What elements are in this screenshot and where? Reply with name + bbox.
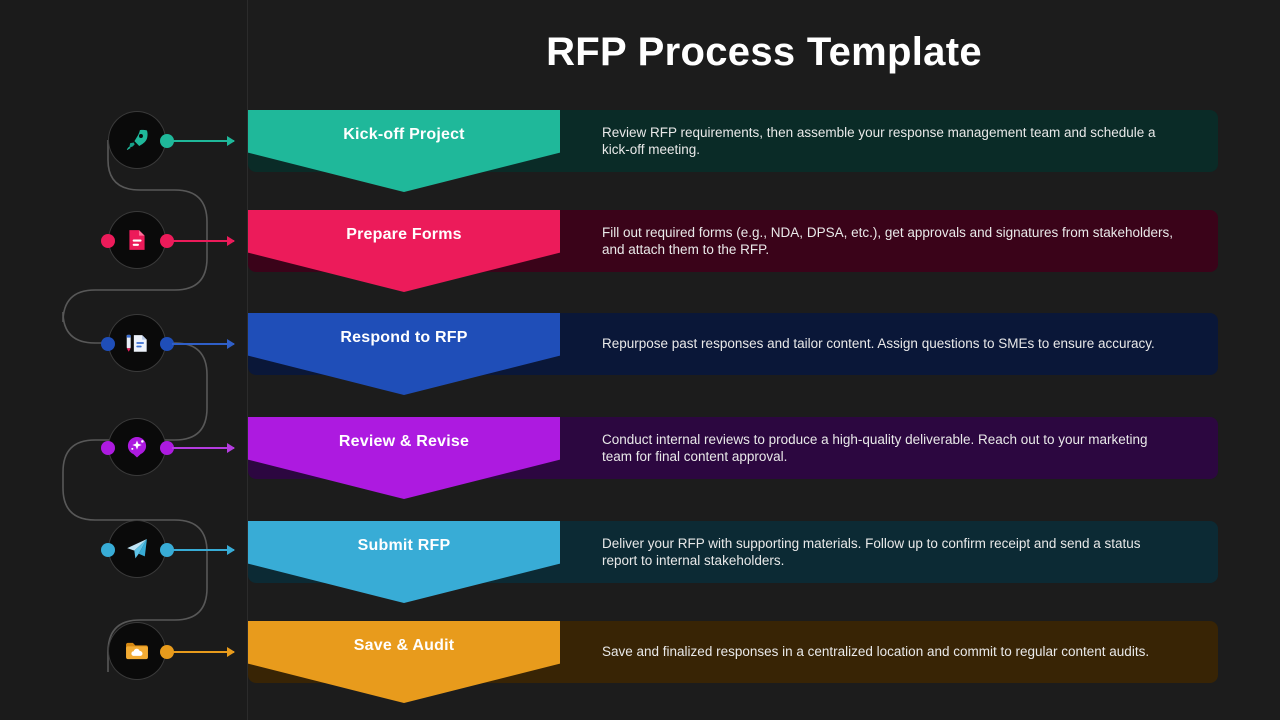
step-label-chevron[interactable]: Save & Audit — [248, 621, 560, 703]
document-lines-icon — [123, 226, 151, 254]
step-label-text: Submit RFP — [358, 537, 451, 555]
folder-cloud-icon — [123, 637, 151, 665]
step-connector-4 — [172, 447, 234, 449]
step-dot-left-2 — [101, 234, 115, 248]
slide-canvas: RFP Process Template Review RFP requirem… — [0, 0, 1280, 720]
step-connector-6 — [172, 651, 234, 653]
step-description-text: Repurpose past responses and tailor cont… — [602, 335, 1155, 352]
step-label-chevron[interactable]: Respond to RFP — [248, 313, 560, 395]
step-connector-2 — [172, 240, 234, 242]
step-label-text: Respond to RFP — [340, 329, 467, 347]
step-label-text: Kick-off Project — [343, 126, 464, 144]
step-node-5[interactable] — [109, 521, 165, 577]
process-step-row[interactable]: Fill out required forms (e.g., NDA, DPSA… — [248, 210, 1218, 272]
step-node-6[interactable] — [109, 623, 165, 679]
step-description-text: Fill out required forms (e.g., NDA, DPSA… — [602, 224, 1178, 259]
step-label-chevron[interactable]: Kick-off Project — [248, 110, 560, 192]
step-description-text: Save and finalized responses in a centra… — [602, 643, 1149, 660]
step-label-text: Review & Revise — [339, 433, 469, 451]
step-connector-3 — [172, 343, 234, 345]
step-label-chevron[interactable]: Review & Revise — [248, 417, 560, 499]
process-step-row[interactable]: Review RFP requirements, then assemble y… — [248, 110, 1218, 172]
rocket-icon — [123, 126, 151, 154]
document-pen-icon — [123, 329, 151, 357]
step-description-text: Review RFP requirements, then assemble y… — [602, 124, 1178, 159]
step-dot-left-5 — [101, 543, 115, 557]
step-label-chevron[interactable]: Submit RFP — [248, 521, 560, 603]
process-step-row[interactable]: Repurpose past responses and tailor cont… — [248, 313, 1218, 375]
process-rail — [0, 0, 248, 720]
process-step-row[interactable]: Conduct internal reviews to produce a hi… — [248, 417, 1218, 479]
step-description-text: Deliver your RFP with supporting materia… — [602, 535, 1178, 570]
step-connector-5 — [172, 549, 234, 551]
step-node-1[interactable] — [109, 112, 165, 168]
sparkle-icon — [123, 433, 151, 461]
step-description-text: Conduct internal reviews to produce a hi… — [602, 431, 1178, 466]
step-node-4[interactable] — [109, 419, 165, 475]
process-step-row[interactable]: Deliver your RFP with supporting materia… — [248, 521, 1218, 583]
step-label-text: Save & Audit — [354, 637, 455, 655]
step-dot-left-3 — [101, 337, 115, 351]
process-step-row[interactable]: Save and finalized responses in a centra… — [248, 621, 1218, 683]
step-connector-1 — [172, 140, 234, 142]
step-label-text: Prepare Forms — [346, 226, 462, 244]
step-node-2[interactable] — [109, 212, 165, 268]
step-node-3[interactable] — [109, 315, 165, 371]
step-label-chevron[interactable]: Prepare Forms — [248, 210, 560, 292]
page-title: RFP Process Template — [248, 30, 1280, 75]
paper-plane-icon — [123, 535, 151, 563]
step-dot-left-4 — [101, 441, 115, 455]
